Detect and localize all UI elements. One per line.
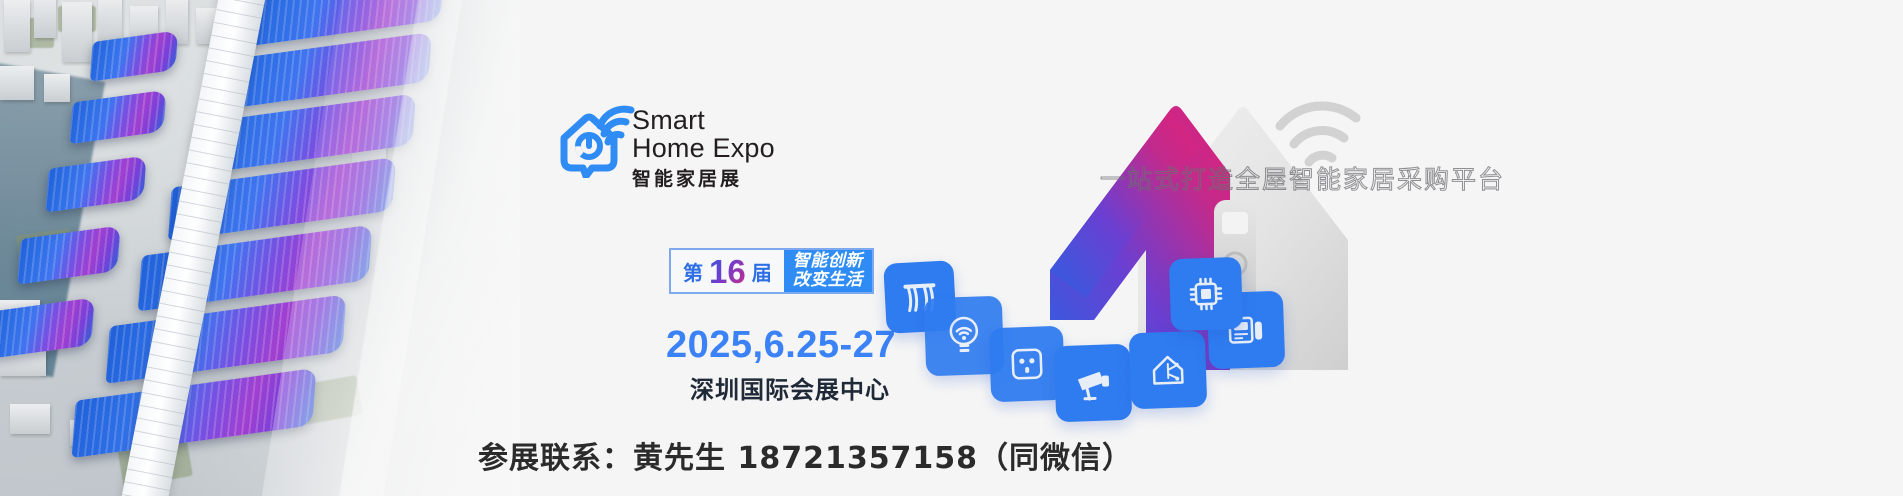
- edition-suffix: 届: [752, 257, 772, 286]
- event-venue: 深圳国际会展中心: [690, 370, 890, 405]
- city-building: [62, 2, 92, 62]
- event-date: 2025,6.25-27: [666, 324, 896, 367]
- edition-badge: 第 16 届 智能创新 改变生活: [669, 248, 874, 294]
- edition-number: 16: [705, 255, 750, 288]
- logo-wordmark: Smart Home Expo 智能家居展: [632, 106, 775, 191]
- logo-line-1: Smart: [632, 106, 775, 134]
- chip-processor-icon: [1169, 257, 1243, 331]
- badge-slogan-panel: 智能创新 改变生活: [784, 250, 872, 292]
- smart-home-icon: [1129, 331, 1208, 410]
- camera-glyph: [1070, 360, 1116, 406]
- wifi-signal-icon: [1280, 106, 1356, 162]
- event-tagline: 一站式打造全屋智能家居采购平台: [1100, 160, 1505, 196]
- expo-banner: Smart Home Expo 智能家居展 第 16 届 智能创新 改变生活 2…: [0, 0, 1903, 496]
- smart-house-illustration: [1030, 40, 1450, 440]
- aerial-photo-panel: [0, 0, 520, 496]
- city-building: [10, 404, 50, 434]
- city-building: [34, 0, 56, 38]
- edition-prefix: 第: [683, 257, 703, 286]
- security-camera-icon: [1054, 344, 1133, 423]
- smart-home-glyph: [1145, 347, 1191, 393]
- socket-glyph: [1005, 342, 1048, 385]
- smart-home-expo-logo: Smart Home Expo 智能家居展: [556, 96, 756, 178]
- chip-glyph: [1184, 272, 1227, 315]
- city-building: [44, 74, 70, 102]
- city-building: [0, 66, 34, 100]
- badge-slogan-line-1: 智能创新: [793, 252, 863, 271]
- badge-slogan-line-2: 改变生活: [793, 271, 863, 290]
- logo-line-2: Home Expo: [632, 134, 775, 162]
- edition-number-group: 第 16 届: [671, 250, 784, 292]
- smart-home-wifi-house-logo-icon: [556, 96, 640, 178]
- city-building: [4, 0, 30, 52]
- logo-chinese-name: 智能家居展: [632, 164, 775, 191]
- bulb-wifi-glyph: [940, 312, 988, 360]
